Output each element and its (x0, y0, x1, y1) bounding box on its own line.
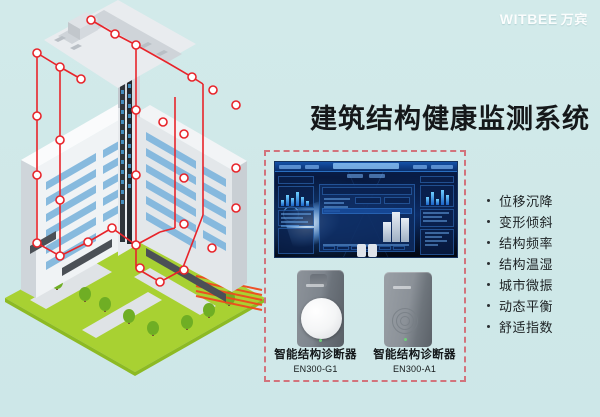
device-caption-g1: 智能结构诊断器 EN300-G1 (266, 346, 365, 374)
list-item: 结构温湿 (487, 253, 595, 274)
page-title: 建筑结构健康监测系统 (310, 97, 590, 136)
device-name: 智能结构诊断器 (266, 346, 365, 362)
list-item: 位移沉降 (487, 190, 595, 211)
device-captions: 智能结构诊断器 EN300-G1 智能结构诊断器 EN300-A1 (266, 346, 464, 374)
device-model: EN300-G1 (266, 364, 365, 374)
feature-label: 变形倾斜 (499, 212, 553, 231)
bullet-icon (487, 304, 490, 307)
bullet-icon (487, 241, 490, 244)
device-name: 智能结构诊断器 (365, 346, 464, 362)
roof (44, 0, 196, 88)
feature-label: 城市微振 (499, 275, 553, 294)
device-a1-ripple-icon (400, 316, 410, 326)
bullet-icon (487, 199, 490, 202)
dashboard-header (275, 162, 457, 172)
poster-canvas: WITBEE万宾 建筑结构健康监测系统 位移沉降 变形倾斜 结构频率 结构温湿 … (0, 0, 600, 417)
list-item: 城市微振 (487, 274, 595, 295)
bullet-icon (487, 325, 490, 328)
feature-label: 舒适指数 (499, 317, 553, 336)
bullet-icon (487, 220, 490, 223)
dashboard-title-bar (333, 163, 399, 169)
list-item: 动态平衡 (487, 295, 595, 316)
building-illustration (0, 0, 270, 400)
bullet-icon (487, 283, 490, 286)
witbee-logo: WITBEE万宾 (500, 9, 588, 28)
device-g1-led-icon (319, 339, 322, 342)
dashboard-3d-model (383, 208, 411, 242)
device-g1-logo (306, 284, 324, 287)
device-g1-lens-icon (301, 298, 342, 339)
feature-label: 位移沉降 (499, 191, 553, 210)
feature-label: 结构频率 (499, 233, 553, 252)
monitoring-dashboard-screenshot (274, 161, 458, 258)
device-en300-g1 (297, 270, 344, 347)
device-en300-a1 (384, 272, 432, 347)
feature-list: 位移沉降 变形倾斜 结构频率 结构温湿 城市微振 动态平衡 舒适指数 (487, 190, 595, 337)
bullet-icon (487, 262, 490, 265)
list-item: 变形倾斜 (487, 211, 595, 232)
dashboard-tabs (347, 174, 385, 178)
device-a1-logo (393, 286, 411, 289)
feature-label: 动态平衡 (499, 296, 553, 315)
product-panel: 智能结构诊断器 EN300-G1 智能结构诊断器 EN300-A1 (264, 150, 466, 382)
list-item: 舒适指数 (487, 316, 595, 337)
brand-name: WITBEE (500, 11, 558, 27)
device-a1-led-icon (404, 338, 407, 341)
list-item: 结构频率 (487, 232, 595, 253)
feature-label: 结构温湿 (499, 254, 553, 273)
brand-name-cn: 万宾 (561, 12, 588, 27)
device-model: EN300-A1 (365, 364, 464, 374)
device-caption-a1: 智能结构诊断器 EN300-A1 (365, 346, 464, 374)
